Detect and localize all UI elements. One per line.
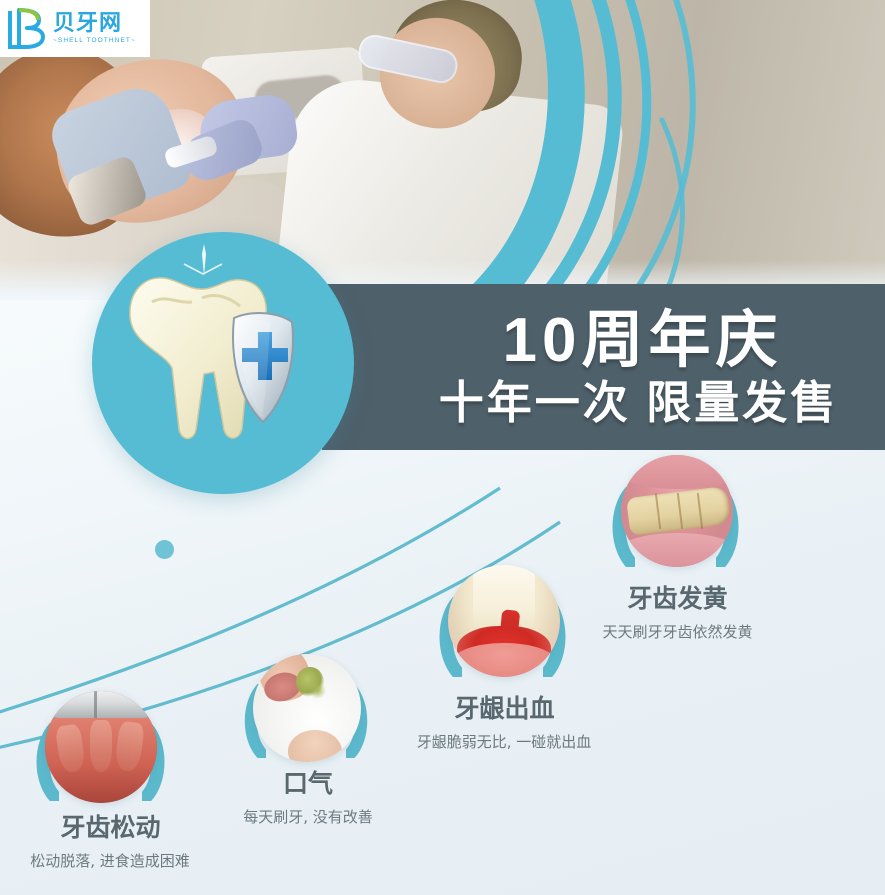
banner-subheadline: 十年一次 限量发售: [439, 380, 839, 425]
symptom-subtitle: 松动脱落, 进食造成困难: [10, 850, 210, 871]
logo-chinese-name: 贝牙网: [53, 13, 136, 35]
shell-b-logo-icon: [5, 6, 51, 52]
banner-headline: 10周年庆: [503, 310, 783, 372]
yellow-teeth-photo-icon: [621, 455, 733, 567]
loose-teeth-photo-icon: [45, 691, 157, 803]
promo-poster: 10周年庆 十年一次 限量发售: [0, 0, 885, 895]
logo-english-name: ~SHELL TOOTHNET~: [53, 38, 136, 45]
site-logo[interactable]: 贝牙网 ~SHELL TOOTHNET~: [0, 0, 150, 57]
anniversary-banner: 10周年庆 十年一次 限量发售: [322, 284, 885, 450]
decorative-dot: [155, 540, 174, 559]
symptom-loose-teeth[interactable]: 牙齿松动 松动脱落, 进食造成困难: [18, 695, 318, 871]
